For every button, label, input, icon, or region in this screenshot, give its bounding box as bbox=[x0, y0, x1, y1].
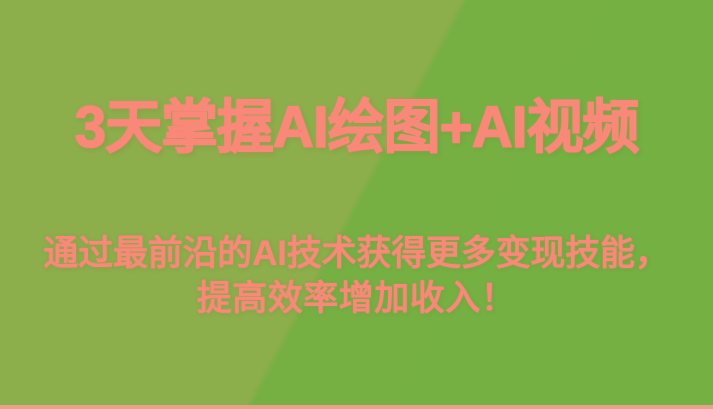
subtitle-line-1: 通过最前沿的AI技术获得更多变现技能， bbox=[0, 232, 713, 277]
subtitle-line-2: 提高效率增加收入！ bbox=[0, 277, 713, 322]
banner-content: 3天掌握AI绘图+AI视频 通过最前沿的AI技术获得更多变现技能， 提高效率增加… bbox=[0, 0, 713, 409]
bottom-accent-strip bbox=[0, 405, 713, 409]
promo-banner: 3天掌握AI绘图+AI视频 通过最前沿的AI技术获得更多变现技能， 提高效率增加… bbox=[0, 0, 713, 409]
subtitle-block: 通过最前沿的AI技术获得更多变现技能， 提高效率增加收入！ bbox=[0, 232, 713, 322]
page-title: 3天掌握AI绘图+AI视频 bbox=[7, 98, 706, 159]
